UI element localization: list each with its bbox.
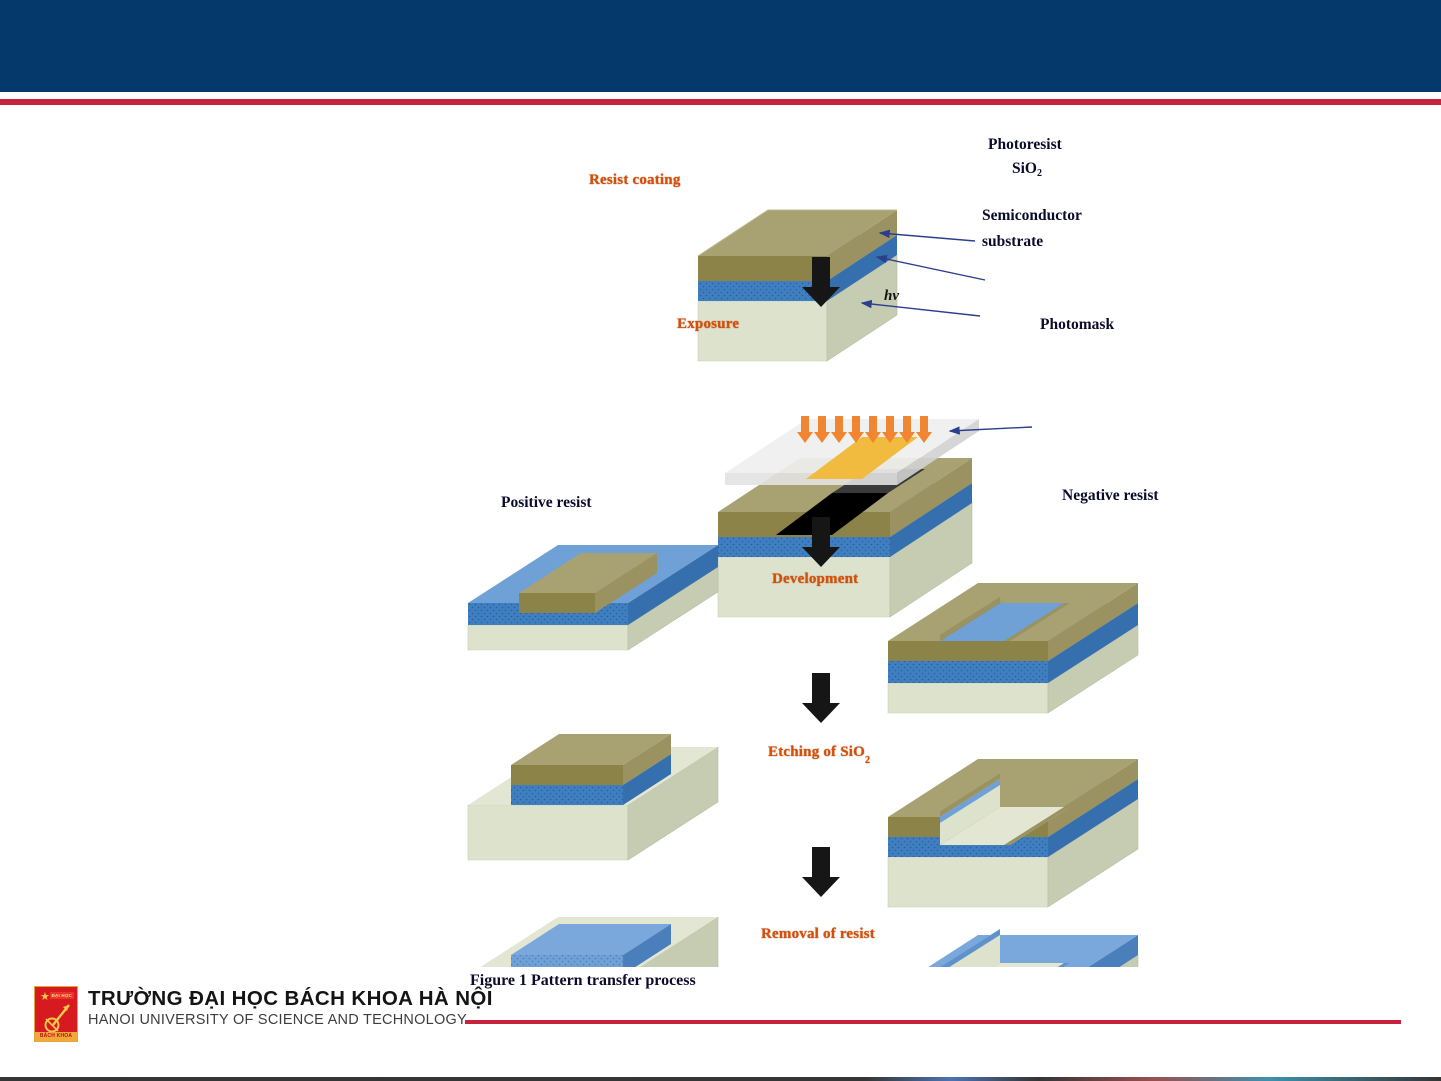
step-label-development: Development bbox=[772, 571, 858, 588]
annotation-photoresist: Photoresist bbox=[988, 136, 1062, 154]
step-arrow-to-etching bbox=[802, 673, 840, 723]
annotation-substrate: substrate bbox=[982, 233, 1043, 251]
university-name-en: HANOI UNIVERSITY OF SCIENCE AND TECHNOLO… bbox=[88, 1011, 493, 1030]
logo-star-icon: ★ bbox=[40, 992, 50, 1003]
annotation-sio2-text: SiO bbox=[1012, 160, 1037, 177]
step-label-removal: Removal of resist bbox=[761, 926, 875, 943]
block-development-negative bbox=[888, 583, 1138, 713]
step-label-etching-text: Etching of SiO bbox=[768, 744, 865, 760]
column-label-positive-resist: Positive resist bbox=[501, 494, 592, 512]
logo-bottom-label: BÁCH KHOA bbox=[35, 1032, 77, 1041]
block-etching-negative bbox=[888, 759, 1138, 907]
block-development-positive bbox=[468, 545, 718, 650]
university-name-vi: TRƯỜNG ĐẠI HỌC BÁCH KHOA HÀ NỘI bbox=[88, 987, 493, 1011]
step-label-etching-sub: 2 bbox=[865, 755, 870, 766]
hust-logo: ★ ĐẠI HỌC BÁCH KHOA bbox=[34, 986, 78, 1042]
block-removal-positive bbox=[468, 917, 718, 967]
step-label-etching: Etching of SiO2 bbox=[768, 744, 870, 763]
block-etching-positive bbox=[468, 734, 718, 860]
annotation-photomask: Photomask bbox=[1040, 316, 1114, 334]
column-label-negative-resist: Negative resist bbox=[1062, 487, 1159, 505]
university-name-block: TRƯỜNG ĐẠI HỌC BÁCH KHOA HÀ NỘI HANOI UN… bbox=[88, 987, 493, 1030]
step-arrow-to-removal bbox=[802, 847, 840, 897]
bottom-edge-strip bbox=[0, 1077, 1441, 1081]
annotation-semiconductor: Semiconductor bbox=[982, 207, 1082, 225]
block-resist-coating bbox=[698, 210, 897, 361]
footer-accent-rule bbox=[465, 1020, 1401, 1024]
hv-label: hv bbox=[884, 288, 899, 305]
header-band bbox=[0, 0, 1441, 92]
footer: ★ ĐẠI HỌC BÁCH KHOA TRƯỜNG ĐẠI HỌC BÁCH … bbox=[0, 978, 1441, 1058]
block-removal-negative bbox=[888, 929, 1138, 967]
diagram-stage bbox=[0, 105, 1441, 967]
logo-tag-label: ĐẠI HỌC bbox=[50, 992, 74, 999]
logo-compass-icon bbox=[43, 1003, 71, 1033]
step-label-exposure: Exposure bbox=[677, 316, 739, 333]
logo-bottom-band: BÁCH KHOA bbox=[35, 1032, 77, 1041]
step-label-resist-coating: Resist coating bbox=[589, 172, 681, 189]
pattern-transfer-diagram bbox=[0, 105, 1441, 967]
annotation-sio2-sub: 2 bbox=[1037, 168, 1042, 179]
annotation-sio2: SiO2 bbox=[1012, 160, 1042, 178]
